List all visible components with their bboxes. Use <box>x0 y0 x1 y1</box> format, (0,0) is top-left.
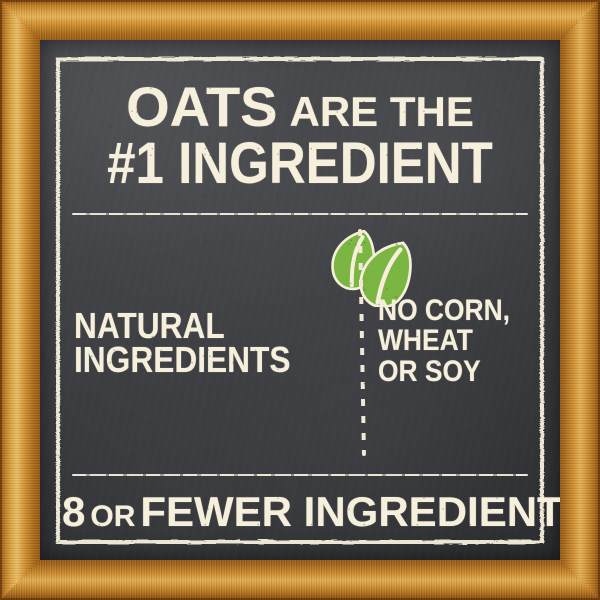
chalkboard-poster: OATSARE THE #1 INGREDIENT NATURAL INGRED… <box>0 0 600 600</box>
natural-ingredients-block: NATURAL INGREDIENTS <box>68 309 320 377</box>
bottom-claim-block: 8ORFEWER INGREDIENTS <box>62 476 538 538</box>
sign-content: OATSARE THE #1 INGREDIENT NATURAL INGRED… <box>62 62 538 538</box>
frame-top-rail <box>0 0 600 42</box>
ingredient-count: 8 <box>62 488 85 535</box>
headline-block: OATSARE THE #1 INGREDIENT <box>62 62 538 191</box>
frame-bottom-rail <box>0 558 600 600</box>
chalkboard-surface: OATSARE THE #1 INGREDIENT NATURAL INGRED… <box>40 40 560 560</box>
headline-oats: OATS <box>126 75 277 138</box>
frame-right-stile <box>558 0 600 600</box>
headline-line-1: OATSARE THE <box>62 80 538 133</box>
bottom-connector: OR <box>90 500 135 533</box>
headline-are-the: ARE THE <box>290 88 474 135</box>
headline-number-one-ingredient: #1 INGREDIENT <box>91 136 510 191</box>
middle-row: NATURAL INGREDIENTS <box>62 215 538 470</box>
natural-label-line-2: INGREDIENTS <box>74 343 291 377</box>
no-corn-line-1: NO CORN, <box>378 297 510 326</box>
bottom-claim-label: FEWER INGREDIENTS <box>140 488 560 535</box>
no-corn-line-2: WHEAT <box>378 327 510 356</box>
no-corn-line-3: OR SOY <box>378 358 510 387</box>
no-corn-block: NO CORN, WHEAT OR SOY <box>378 297 532 389</box>
leaf-icon-area <box>320 215 354 470</box>
natural-label-line-1: NATURAL <box>74 309 291 343</box>
frame-left-stile <box>0 0 42 600</box>
